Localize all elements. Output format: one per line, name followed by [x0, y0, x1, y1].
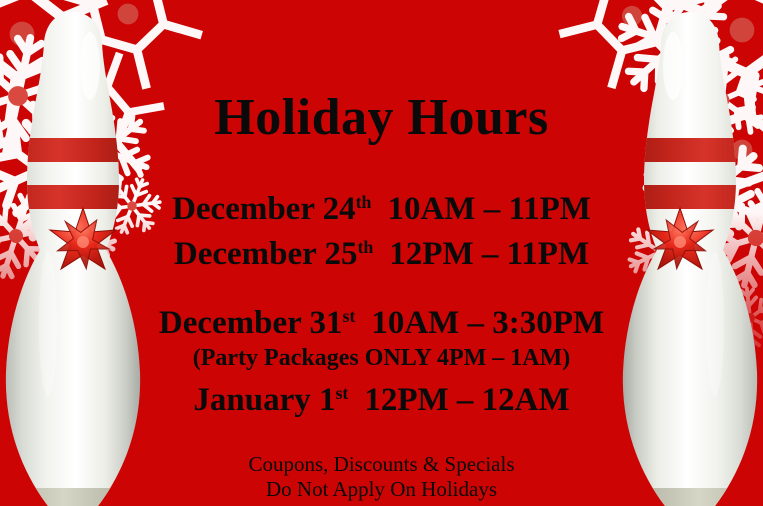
- schedule-ordinal: st: [335, 383, 348, 403]
- schedule-row: January 1st12PM – 12AM: [0, 374, 763, 419]
- schedule-ordinal: st: [342, 306, 355, 326]
- schedule-date: January 1: [193, 382, 335, 418]
- party-packages-note: (Party Packages ONLY 4PM – 1AM): [0, 342, 763, 374]
- disclaimer-line-1: Coupons, Discounts & Specials: [0, 452, 763, 477]
- schedule-hours: 12PM – 11PM: [389, 236, 589, 272]
- schedule-date: December 31: [159, 305, 343, 341]
- schedule-primary: December 24th10AM – 11PM December 25th12…: [0, 183, 763, 273]
- schedule-row: December 31st10AM – 3:30PM: [0, 297, 763, 342]
- page-title: Holiday Hours: [0, 92, 763, 144]
- schedule-secondary: December 31st10AM – 3:30PM (Party Packag…: [0, 297, 763, 419]
- schedule-row: December 24th10AM – 11PM: [0, 183, 763, 228]
- schedule-date: December 25: [174, 236, 358, 272]
- holiday-hours-poster: Holiday Hours December 24th10AM – 11PM D…: [0, 0, 763, 506]
- schedule-hours: 12PM – 12AM: [364, 382, 569, 418]
- disclaimer: Coupons, Discounts & Specials Do Not App…: [0, 452, 763, 502]
- schedule-date: December 24: [172, 191, 356, 227]
- schedule-row: December 25th12PM – 11PM: [0, 228, 763, 273]
- schedule-hours: 10AM – 11PM: [387, 191, 590, 227]
- schedule-hours: 10AM – 3:30PM: [371, 305, 604, 341]
- schedule-ordinal: th: [357, 237, 373, 257]
- schedule-ordinal: th: [356, 192, 372, 212]
- poster-content: Holiday Hours December 24th10AM – 11PM D…: [0, 0, 763, 506]
- disclaimer-line-2: Do Not Apply On Holidays: [0, 477, 763, 502]
